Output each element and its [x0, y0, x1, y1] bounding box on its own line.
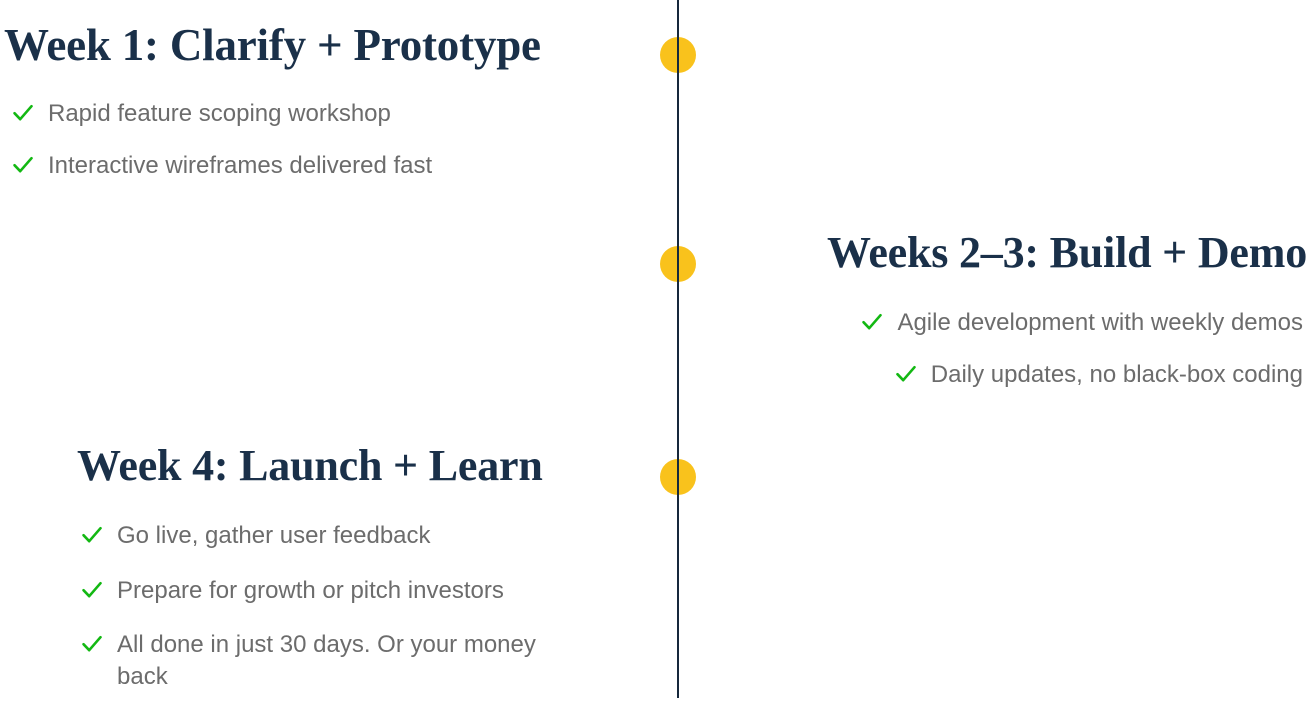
timeline-stage-week-4: Week 4: Launch + Learn Go live, gather u…: [77, 443, 657, 705]
check-icon: [81, 631, 103, 657]
list-item: Go live, gather user feedback: [81, 520, 657, 552]
vertical-timeline-axis: [677, 0, 679, 698]
check-icon: [81, 522, 103, 548]
list-item: Agile development with weekly demos: [735, 307, 1303, 339]
timeline-stage-week-1: Week 1: Clarify + Prototype Rapid featur…: [4, 22, 664, 182]
bullet-text: Go live, gather user feedback: [117, 520, 431, 552]
bullet-text: All done in just 30 days. Or your money …: [117, 629, 547, 694]
list-item: Rapid feature scoping workshop: [12, 98, 664, 130]
axis-segment-over-dot-3: [677, 459, 679, 495]
axis-segment-over-dot-1: [677, 37, 679, 73]
stage-heading-week-1: Week 1: Clarify + Prototype: [4, 22, 664, 69]
bullet-text: Agile development with weekly demos: [897, 307, 1303, 339]
stage-heading-weeks-2-3: Weeks 2–3: Build + Demo: [735, 230, 1307, 276]
bullet-text: Interactive wireframes delivered fast: [48, 150, 432, 182]
bullet-list-week-1: Rapid feature scoping workshop Interacti…: [4, 98, 664, 182]
check-icon: [12, 100, 34, 126]
timeline-canvas: Week 1: Clarify + Prototype Rapid featur…: [0, 0, 1311, 705]
axis-segment-over-dot-2: [677, 246, 679, 282]
list-item: Interactive wireframes delivered fast: [12, 150, 664, 182]
check-icon: [895, 361, 917, 387]
timeline-stage-weeks-2-3: Weeks 2–3: Build + Demo Agile developmen…: [735, 230, 1307, 391]
list-item: Daily updates, no black-box coding: [735, 359, 1303, 391]
bullet-text: Daily updates, no black-box coding: [931, 359, 1303, 391]
check-icon: [12, 152, 34, 178]
bullet-list-week-4: Go live, gather user feedback Prepare fo…: [77, 520, 657, 694]
stage-heading-week-4: Week 4: Launch + Learn: [77, 443, 657, 489]
bullet-text: Rapid feature scoping workshop: [48, 98, 391, 130]
check-icon: [861, 309, 883, 335]
bullet-text: Prepare for growth or pitch investors: [117, 575, 504, 607]
check-icon: [81, 577, 103, 603]
list-item: Prepare for growth or pitch investors: [81, 575, 657, 607]
bullet-list-weeks-2-3: Agile development with weekly demos Dail…: [735, 307, 1307, 391]
list-item: All done in just 30 days. Or your money …: [81, 629, 551, 694]
